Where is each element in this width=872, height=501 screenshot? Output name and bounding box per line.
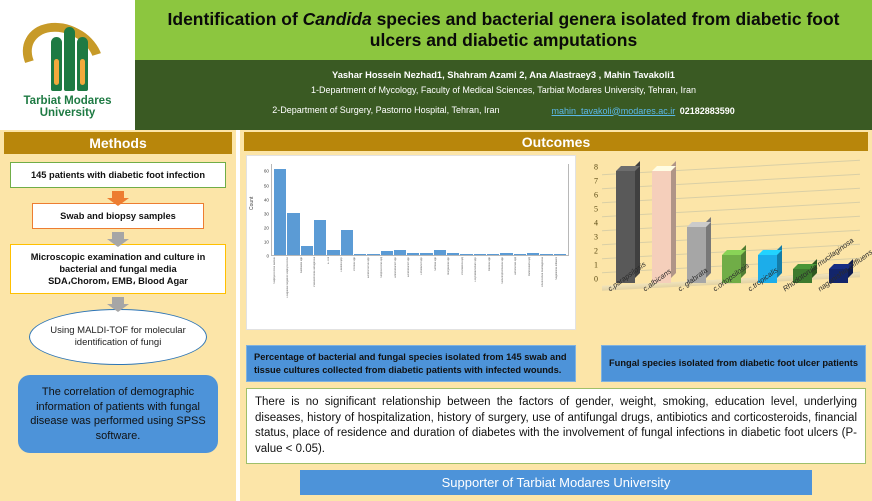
chart1-x-label: Coagulase negative staphylococcus bbox=[286, 257, 298, 327]
chart1-bar bbox=[367, 254, 379, 255]
chart1-x-label: Enterococcus spp bbox=[367, 257, 379, 327]
methods-heading: Methods bbox=[4, 132, 232, 154]
chart1-bar bbox=[341, 230, 353, 255]
chart1-bar bbox=[447, 253, 459, 256]
chart1-x-label: Aeromonas spp bbox=[514, 257, 526, 327]
flow-step-1: 145 patients with diabetic foot infectio… bbox=[10, 162, 226, 188]
chart1-bar bbox=[407, 253, 419, 256]
flow-step-3: Microscopic examination and culture in b… bbox=[10, 244, 226, 294]
chart1-x-label: Rhodotorula mucilaginosa bbox=[541, 257, 553, 327]
logo-inner-left bbox=[54, 59, 59, 85]
contact-group: mahin_tavakoli@modares.ac.ir 02182883590 bbox=[552, 101, 735, 119]
flow-step-3-line1: Microscopic examination and culture in bbox=[31, 252, 206, 262]
supporter-banner: Supporter of Tarbiat Modares University bbox=[300, 470, 812, 495]
chart1-x-label: Providencia spp bbox=[461, 257, 473, 327]
chart1-bar bbox=[527, 253, 539, 256]
chart1-bars bbox=[272, 164, 568, 255]
chart1-x-label: Pseudomonas aeruginosa bbox=[313, 257, 325, 327]
chart2-tick: 2 bbox=[594, 247, 598, 256]
chart2-tick: 4 bbox=[594, 219, 598, 228]
poster: Tarbiat Modares University Identificatio… bbox=[0, 0, 872, 501]
conclusion-text: There is no significant relationship bet… bbox=[246, 388, 866, 464]
affiliation-1: 1-Department of Mycology, Faculty of Med… bbox=[135, 85, 872, 95]
chart1-bar bbox=[554, 254, 566, 255]
title-part1: Identification of bbox=[168, 9, 303, 29]
chart1-bar bbox=[287, 213, 299, 255]
contact-line: 2-Department of Surgery, Pastorno Hospit… bbox=[135, 101, 872, 119]
title-part2: species and bacterial genera isolated fr… bbox=[370, 9, 840, 50]
title-bar: Identification of Candida species and ba… bbox=[135, 0, 872, 60]
logo-inner-right bbox=[80, 59, 85, 85]
chart1-x-label: Streptococcus spp bbox=[380, 257, 392, 327]
chart1-tick: 30 bbox=[264, 211, 269, 216]
chart1-bar bbox=[394, 250, 406, 256]
chart1-tick: 40 bbox=[264, 197, 269, 202]
charts-row: Count 0102030405060 Staphylococcus aureu… bbox=[240, 151, 872, 341]
logo-leaf-center bbox=[64, 27, 75, 91]
chart2-tick: 8 bbox=[594, 162, 598, 171]
chart1-bar bbox=[514, 254, 526, 255]
chart1-tick: 50 bbox=[264, 183, 269, 188]
chart2-tick: 3 bbox=[594, 233, 598, 242]
chart1-wrap: Count 0102030405060 Staphylococcus aureu… bbox=[247, 156, 575, 329]
chart1-bar bbox=[381, 251, 393, 255]
methods-flowchart: 145 patients with diabetic foot infectio… bbox=[0, 154, 236, 365]
chart1-x-label: Burkholderia spp bbox=[528, 257, 540, 327]
page-title: Identification of Candida species and ba… bbox=[149, 9, 858, 51]
authors-line: Yashar Hossein Nezhad1, Shahram Azami 2,… bbox=[135, 70, 872, 80]
chart1-tick: 60 bbox=[264, 169, 269, 174]
chart1-x-label: Serratia spp bbox=[434, 257, 446, 327]
chart1-x-label: Stenotrophomonas spp bbox=[501, 257, 513, 327]
chart1-x-labels: Staphylococcus aureusCoagulase negative … bbox=[271, 257, 569, 327]
flow-step-2: Swab and biopsy samples bbox=[32, 203, 204, 229]
chart1-x-label: Candida spp bbox=[340, 257, 352, 327]
chart1-x-label: Enterobacter spp bbox=[407, 257, 419, 327]
chart1-bar bbox=[434, 250, 446, 256]
chart2-caption-col: Fungal species isolated from diabetic fo… bbox=[582, 345, 866, 382]
captions-row: Percentage of bacterial and fungal speci… bbox=[240, 341, 872, 382]
chart1-plot-area bbox=[271, 164, 569, 256]
chart1-y-ticks: 0102030405060 bbox=[255, 164, 269, 256]
chart1-tick: 0 bbox=[266, 254, 269, 259]
outcomes-heading: Outcomes bbox=[244, 132, 868, 151]
phone-number: 02182883590 bbox=[680, 106, 735, 116]
chart1-x-label: E. coli bbox=[327, 257, 339, 327]
logo-emblem-icon bbox=[13, 11, 123, 93]
chart2-x-labels: c.parapsilosisc.albicansc. glabratac.ort… bbox=[602, 282, 866, 330]
email-link[interactable]: mahin_tavakoli@modares.ac.ir bbox=[552, 106, 676, 116]
chart1-bar bbox=[460, 254, 472, 255]
chart1-bar bbox=[540, 254, 552, 255]
chart1-tick: 20 bbox=[264, 226, 269, 231]
chart1-bar bbox=[314, 220, 326, 255]
chart1-bar bbox=[474, 254, 486, 255]
chart1-tick: 10 bbox=[264, 240, 269, 245]
poster-body: Methods 145 patients with diabetic foot … bbox=[0, 130, 872, 501]
chart2-tick: 0 bbox=[594, 275, 598, 284]
logo-text: Tarbiat Modares University bbox=[24, 95, 112, 120]
chart1-bar bbox=[301, 246, 313, 256]
chart2-bar-side bbox=[671, 161, 676, 278]
chart1-x-label: Citrobacter spp bbox=[420, 257, 432, 327]
poster-header: Tarbiat Modares University Identificatio… bbox=[0, 0, 872, 130]
chart2-tick: 5 bbox=[594, 205, 598, 214]
chart1-x-label: Acinetobacter spp bbox=[394, 257, 406, 327]
chart2-tick: 1 bbox=[594, 261, 598, 270]
chart2-y-ticks: 012345678 bbox=[584, 161, 598, 279]
chart1-x-label: Corynebacterium spp bbox=[474, 257, 486, 327]
chart1-bar bbox=[487, 254, 499, 255]
chart-bacterial-fungal-species: Count 0102030405060 Staphylococcus aureu… bbox=[246, 155, 576, 330]
header-right: Identification of Candida species and ba… bbox=[135, 0, 872, 130]
chart1-x-label: Bacillus spp bbox=[488, 257, 500, 327]
chart1-bar bbox=[420, 253, 432, 256]
chart1-x-label: Klebsiella spp bbox=[300, 257, 312, 327]
chart1-bar bbox=[354, 254, 366, 255]
university-logo: Tarbiat Modares University bbox=[0, 0, 135, 130]
flow-step-3-line2: bacterial and fungal media bbox=[59, 264, 176, 274]
chart1-x-label: Staphylococcus aureus bbox=[273, 257, 285, 327]
methods-column: Methods 145 patients with diabetic foot … bbox=[0, 130, 240, 501]
logo-text-line1: Tarbiat Modares bbox=[24, 95, 112, 107]
chart1-x-label: Naganishia diffluens bbox=[555, 257, 567, 327]
authors-bar: Yashar Hossein Nezhad1, Shahram Azami 2,… bbox=[135, 60, 872, 130]
affiliation-2: 2-Department of Surgery, Pastorno Hospit… bbox=[272, 105, 499, 115]
methods-analysis-note: The correlation of demographic informati… bbox=[18, 375, 218, 453]
title-italic-candida: Candida bbox=[303, 9, 372, 29]
flow-step-4: Using MALDI-TOF for molecular identifica… bbox=[29, 309, 207, 365]
chart2-tick: 7 bbox=[594, 177, 598, 186]
chart1-bar bbox=[500, 253, 512, 256]
chart1-x-label: Proteus spp bbox=[353, 257, 365, 327]
chart1-bar bbox=[327, 250, 339, 256]
chart2-caption: Fungal species isolated from diabetic fo… bbox=[601, 345, 866, 382]
chart1-x-label: Morganella spp bbox=[447, 257, 459, 327]
chart1-bar bbox=[274, 169, 286, 256]
chart1-caption: Percentage of bacterial and fungal speci… bbox=[246, 345, 576, 382]
chart-fungal-species: 012345678 c.parapsilosisc.albicansc. gla… bbox=[582, 155, 866, 330]
flow-step-3-line3: SDA،Chorom، EMB، Blood Agar bbox=[48, 276, 188, 286]
logo-arc-shape bbox=[10, 9, 115, 107]
outcomes-column: Outcomes Count 0102030405060 Staphylococ… bbox=[240, 130, 872, 501]
chart2-tick: 6 bbox=[594, 191, 598, 200]
chart2-wrap: 012345678 c.parapsilosisc.albicansc. gla… bbox=[582, 155, 866, 330]
logo-text-line2: University bbox=[24, 107, 112, 120]
